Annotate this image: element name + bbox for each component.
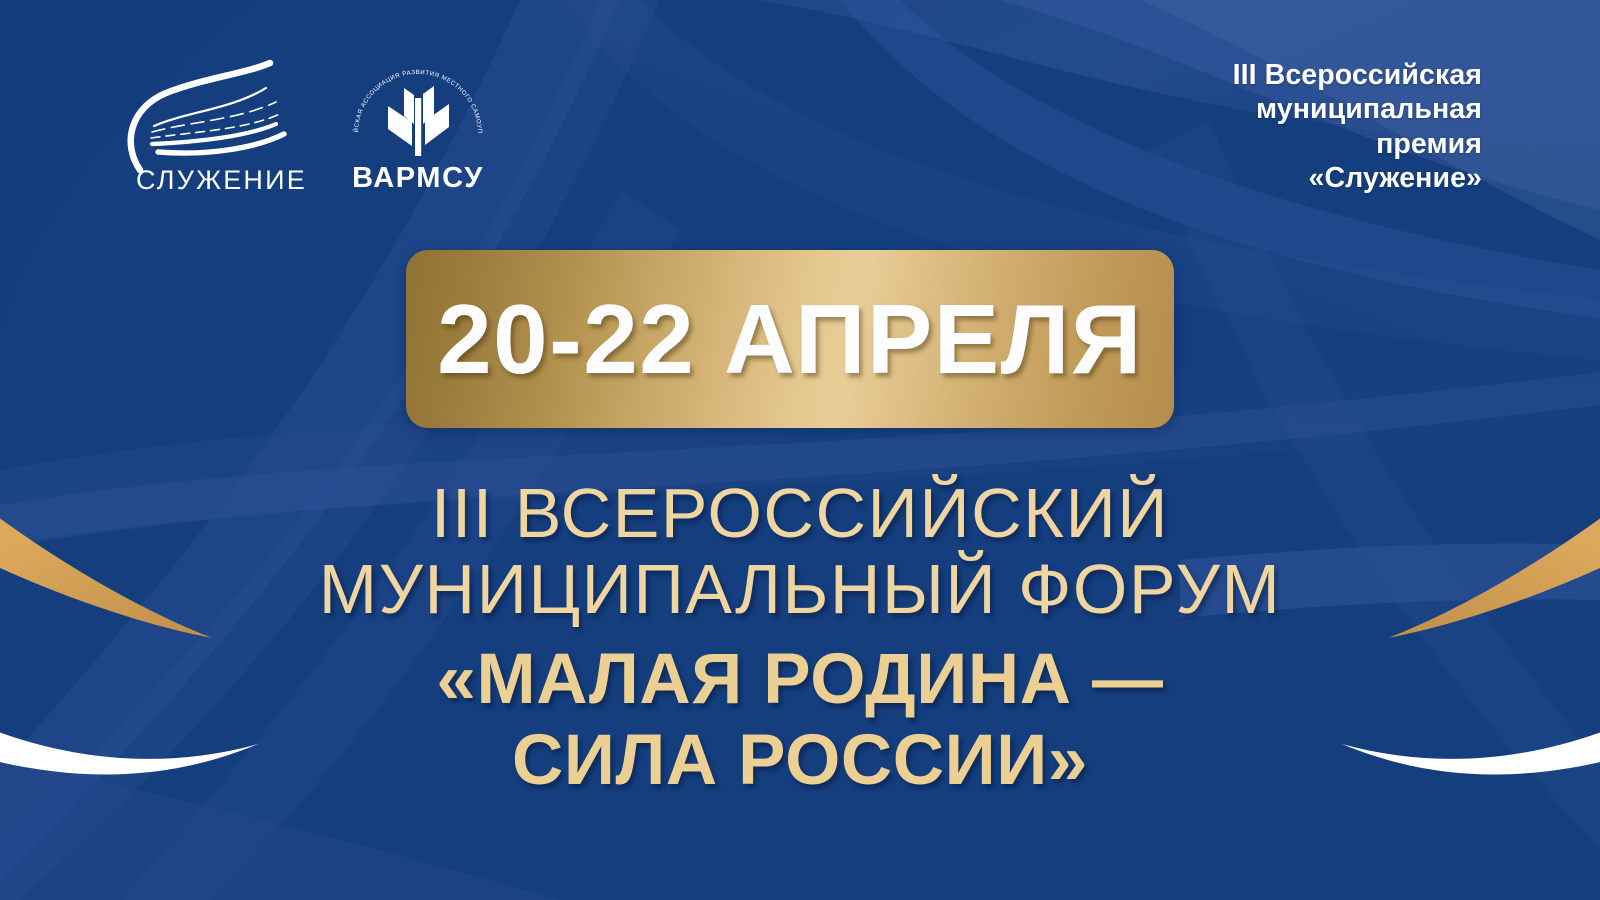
date-banner: 20-22 АПРЕЛЯ (406, 250, 1174, 428)
varmsu-wordmark: ВАРМСУ (342, 162, 494, 195)
headline-line-3: «МАЛАЯ РОДИНА — (0, 640, 1600, 721)
varmsu-logo: ВСЕРОССИЙСКАЯ АССОЦИАЦИЯ РАЗВИТИЯ МЕСТНО… (342, 52, 494, 202)
event-poster: СЛУЖЕНИЕ ВСЕРОССИЙСКАЯ АССОЦИАЦИЯ РАЗВИТ… (0, 0, 1600, 900)
award-line-4: «Служение» (1233, 161, 1482, 195)
date-text: 20-22 АПРЕЛЯ (437, 290, 1143, 388)
headline-line-2: МУНИЦИПАЛЬНЫЙ ФОРУМ (0, 552, 1600, 628)
award-title-block: III Всероссийская муниципальная премия «… (1233, 58, 1482, 196)
award-line-3: премия (1233, 127, 1482, 161)
sluzhenie-logo: СЛУЖЕНИЕ (108, 52, 308, 202)
headline-line-4: СИЛА РОССИИ» (0, 721, 1600, 802)
headline-line-1: III ВСЕРОССИЙСКИЙ (0, 476, 1600, 552)
sluzhenie-wordmark: СЛУЖЕНИЕ (136, 165, 307, 196)
award-line-2: муниципальная (1233, 92, 1482, 126)
forum-headline: III ВСЕРОССИЙСКИЙ МУНИЦИПАЛЬНЫЙ ФОРУМ «М… (0, 476, 1600, 802)
logo-row: СЛУЖЕНИЕ ВСЕРОССИЙСКАЯ АССОЦИАЦИЯ РАЗВИТ… (108, 52, 494, 202)
award-line-1: III Всероссийская (1233, 58, 1482, 92)
